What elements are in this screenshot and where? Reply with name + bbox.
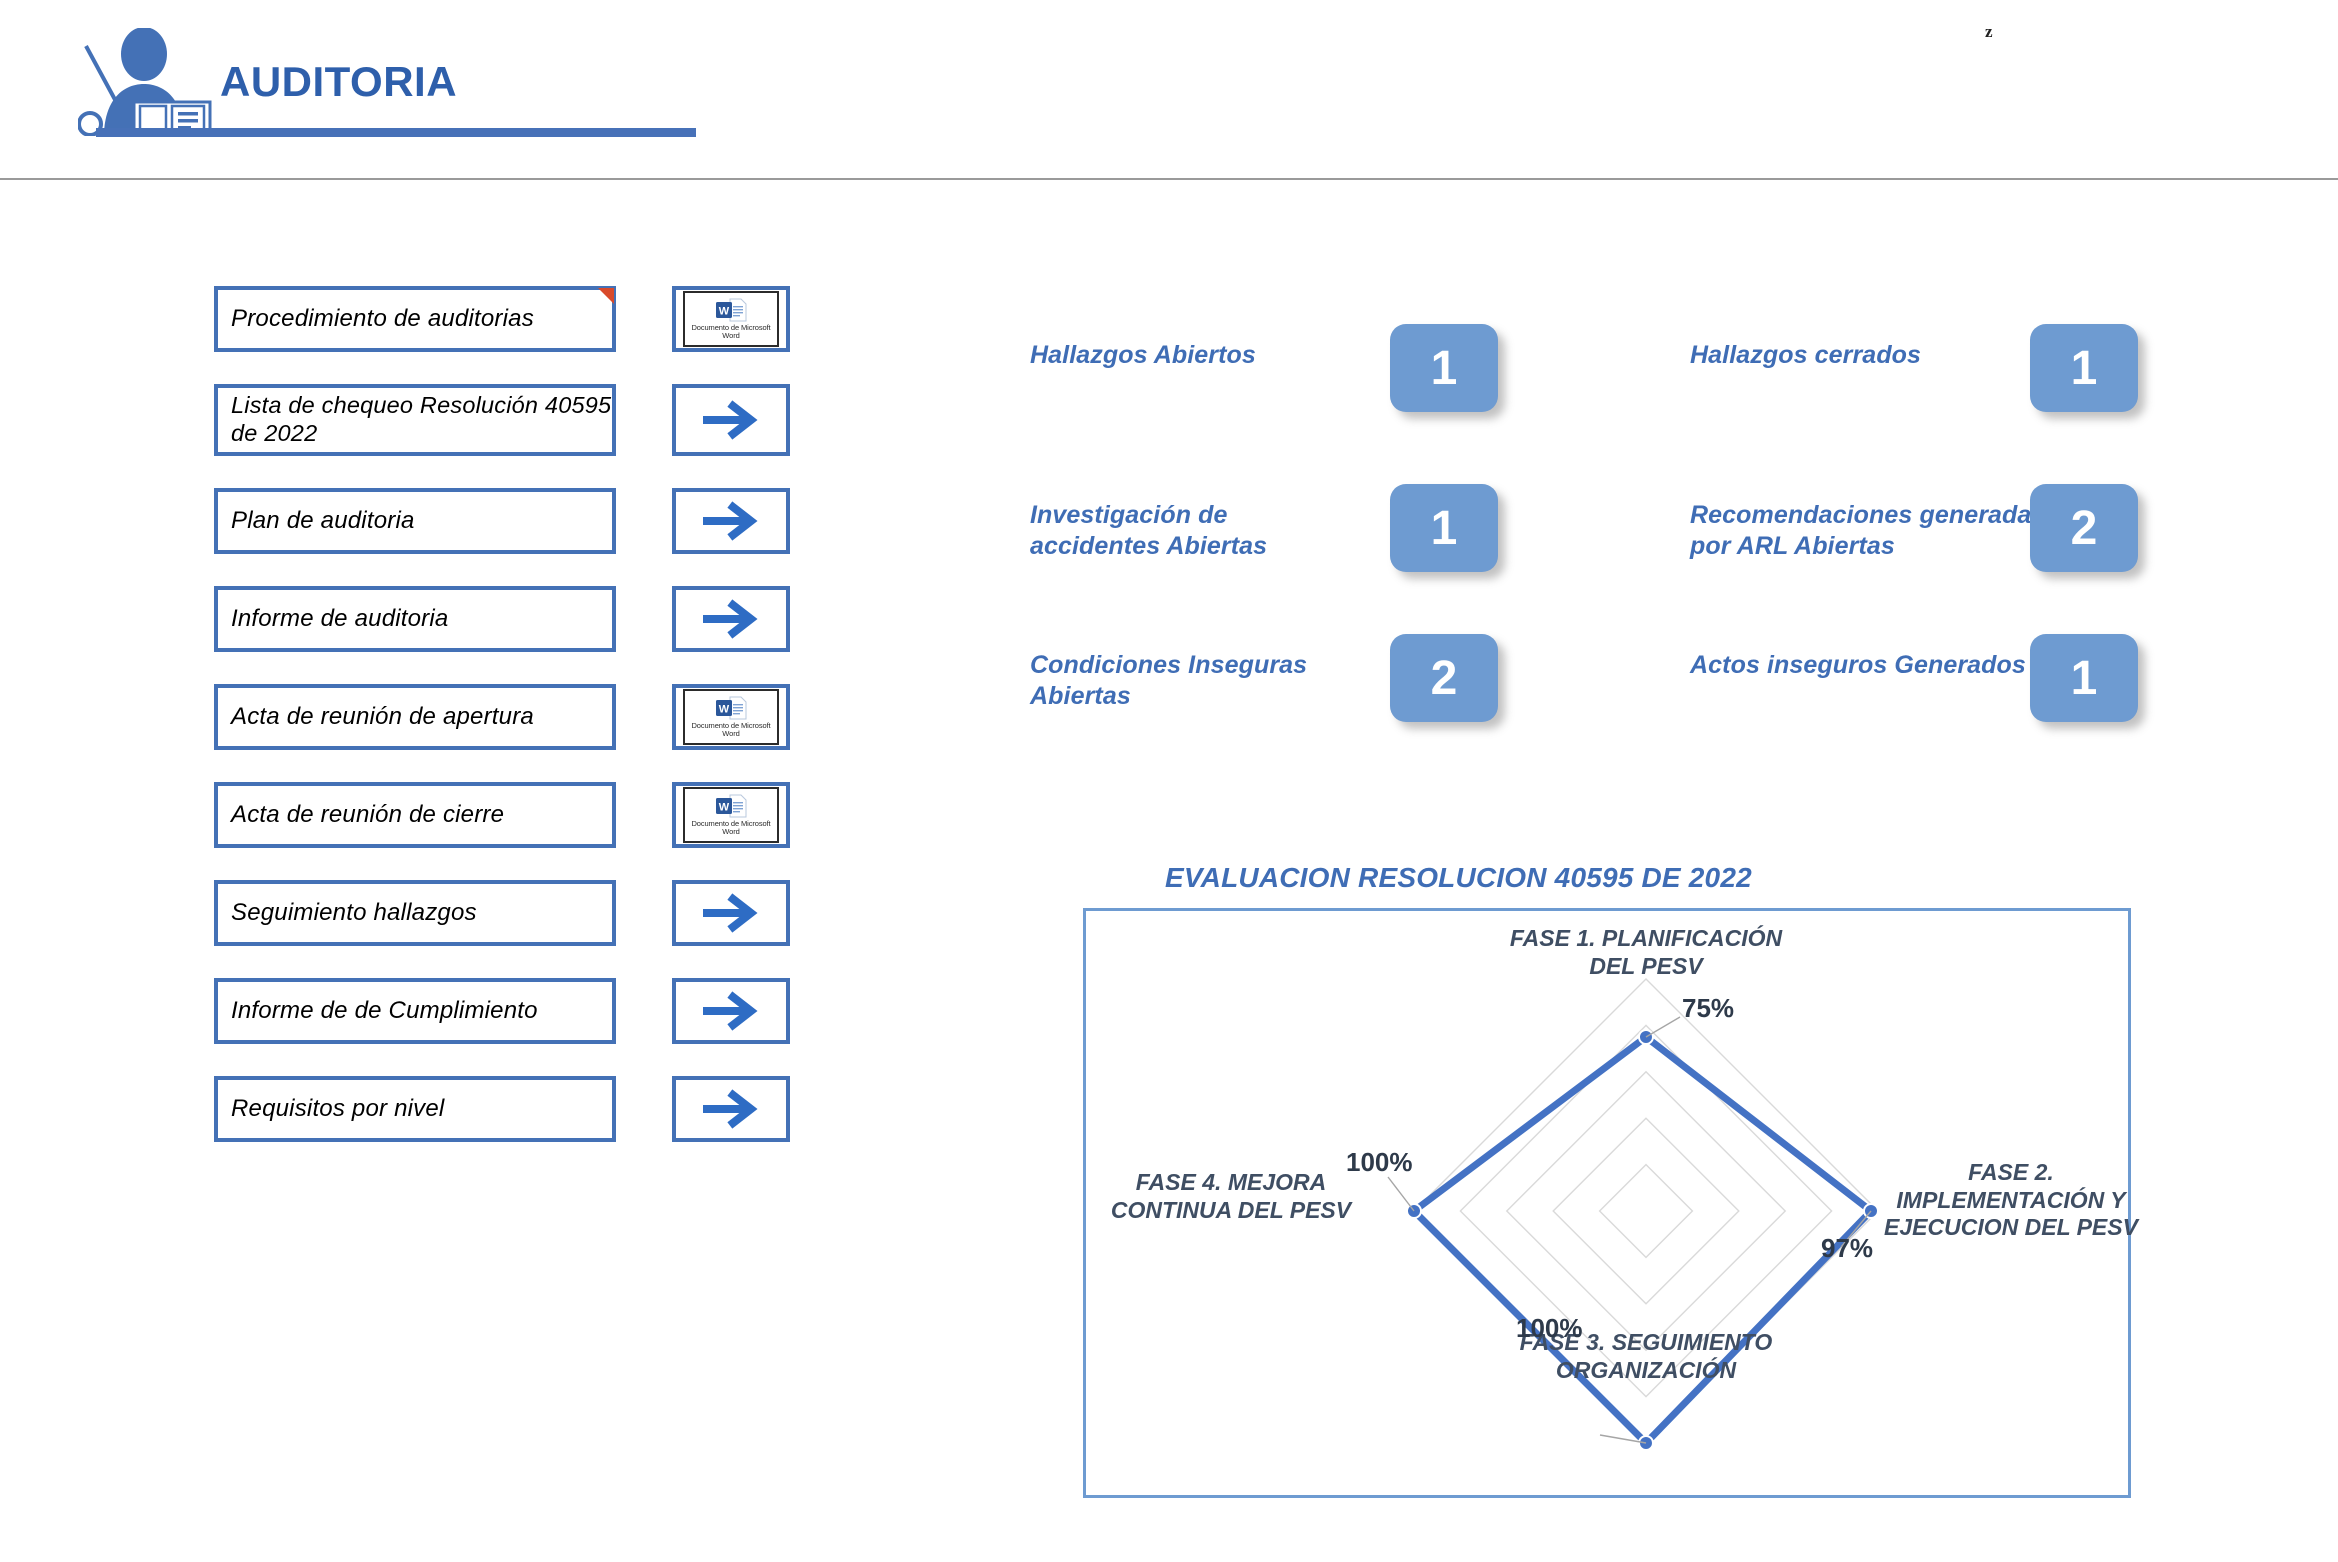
document-row: Informe de auditoria xyxy=(214,586,824,652)
radar-leader-line xyxy=(1646,1017,1680,1037)
document-action-button[interactable] xyxy=(672,880,790,946)
document-row: Plan de auditoria xyxy=(214,488,824,554)
word-document-icon: WDocumento de Microsoft Word xyxy=(683,689,779,745)
document-label: Procedimiento de auditorias xyxy=(231,305,534,333)
chart-title: EVALUACION RESOLUCION 40595 DE 2022 xyxy=(1165,862,1752,894)
title-underline xyxy=(96,128,696,137)
document-label: Requisitos por nivel xyxy=(231,1095,444,1123)
word-icon-caption: Documento de Microsoft Word xyxy=(685,722,777,739)
radar-value-label: 100% xyxy=(1516,1313,1583,1344)
kpi-value-badge[interactable]: 1 xyxy=(1390,484,1498,572)
document-row: Acta de reunión de cierreWDocumento de M… xyxy=(214,782,824,848)
radar-gridline xyxy=(1553,1118,1739,1304)
kpi-label: Hallazgos Abiertos xyxy=(1030,340,1360,371)
word-document-icon: WDocumento de Microsoft Word xyxy=(683,291,779,347)
kpi-value-badge[interactable]: 1 xyxy=(1390,324,1498,412)
document-button[interactable]: Procedimiento de auditorias xyxy=(214,286,616,352)
document-label: Acta de reunión de cierre xyxy=(231,801,504,829)
page-title: AUDITORIA xyxy=(220,58,457,106)
kpi-value-badge[interactable]: 2 xyxy=(1390,634,1498,722)
document-row: Procedimiento de auditoriasWDocumento de… xyxy=(214,286,824,352)
document-action-button[interactable] xyxy=(672,1076,790,1142)
comment-flag-icon xyxy=(598,288,614,304)
kpi-value-badge[interactable]: 1 xyxy=(2030,634,2138,722)
document-row: Acta de reunión de aperturaWDocumento de… xyxy=(214,684,824,750)
document-button[interactable]: Lista de chequeo Resolución 40595 de 202… xyxy=(214,384,616,456)
right-arrow-icon xyxy=(699,1089,763,1129)
radar-chart: FASE 1. PLANIFICACIÓN DEL PESVFASE 2. IM… xyxy=(1083,908,2131,1498)
radar-value-label: 100% xyxy=(1346,1147,1413,1178)
document-button[interactable]: Acta de reunión de cierre xyxy=(214,782,616,848)
document-label: Lista de chequeo Resolución 40595 de 202… xyxy=(231,392,612,447)
document-button[interactable]: Informe de de Cumplimiento xyxy=(214,978,616,1044)
word-file-glyph: W xyxy=(714,298,748,322)
radar-axis-label: FASE 1. PLANIFICACIÓN DEL PESV xyxy=(1416,925,1876,980)
kpi-card: Actos inseguros Generados1 xyxy=(1690,650,2030,681)
word-document-icon: WDocumento de Microsoft Word xyxy=(683,787,779,843)
document-button[interactable]: Requisitos por nivel xyxy=(214,1076,616,1142)
kpi-card: Hallazgos Abiertos1 xyxy=(1030,340,1360,371)
slide-canvas: AUDITORIA z Procedimiento de auditoriasW… xyxy=(0,0,2338,1562)
document-action-button[interactable]: WDocumento de Microsoft Word xyxy=(672,286,790,352)
document-button[interactable]: Acta de reunión de apertura xyxy=(214,684,616,750)
radar-gridline xyxy=(1600,1165,1693,1258)
kpi-label: Investigación de accidentes Abiertas xyxy=(1030,500,1350,561)
right-arrow-icon xyxy=(699,991,763,1031)
document-label: Seguimiento hallazgos xyxy=(231,899,477,927)
svg-text:W: W xyxy=(719,801,730,813)
document-row: Informe de de Cumplimiento xyxy=(214,978,824,1044)
document-label: Acta de reunión de apertura xyxy=(231,703,534,731)
document-button[interactable]: Plan de auditoria xyxy=(214,488,616,554)
document-row: Seguimiento hallazgos xyxy=(214,880,824,946)
kpi-label: Hallazgos cerrados xyxy=(1690,340,2020,371)
kpi-card: Recomendaciones generadas por ARL Abiert… xyxy=(1690,500,2090,561)
kpi-card: Hallazgos cerrados1 xyxy=(1690,340,2020,371)
document-button[interactable]: Seguimiento hallazgos xyxy=(214,880,616,946)
svg-text:W: W xyxy=(719,305,730,317)
word-icon-caption: Documento de Microsoft Word xyxy=(685,820,777,837)
document-action-button[interactable] xyxy=(672,384,790,456)
radar-data-points xyxy=(1407,1030,1878,1450)
word-icon-caption: Documento de Microsoft Word xyxy=(685,324,777,341)
right-arrow-icon xyxy=(699,501,763,541)
radar-value-label: 97% xyxy=(1821,1233,1873,1264)
header-divider xyxy=(0,178,2338,180)
kpi-label: Condiciones Inseguras Abiertas xyxy=(1030,650,1360,711)
word-file-glyph: W xyxy=(714,696,748,720)
radar-value-label: 75% xyxy=(1682,993,1734,1024)
document-button[interactable]: Informe de auditoria xyxy=(214,586,616,652)
radar-axis-label: FASE 3. SEGUIMIENTO ORGANIZACIÓN xyxy=(1416,1329,1876,1384)
kpi-value-badge[interactable]: 2 xyxy=(2030,484,2138,572)
page-header: AUDITORIA z xyxy=(0,0,2338,180)
kpi-card: Condiciones Inseguras Abiertas2 xyxy=(1030,650,1360,711)
auditor-person-desk-icon xyxy=(78,28,228,136)
word-file-glyph: W xyxy=(714,794,748,818)
right-arrow-icon xyxy=(699,400,763,440)
document-row: Lista de chequeo Resolución 40595 de 202… xyxy=(214,384,824,456)
corner-mark: z xyxy=(1985,22,1993,42)
document-action-button[interactable]: WDocumento de Microsoft Word xyxy=(672,684,790,750)
document-action-button[interactable] xyxy=(672,488,790,554)
right-arrow-icon xyxy=(699,893,763,933)
document-label: Plan de auditoria xyxy=(231,507,415,535)
kpi-card: Investigación de accidentes Abiertas1 xyxy=(1030,500,1350,561)
document-action-button[interactable] xyxy=(672,586,790,652)
document-action-button[interactable] xyxy=(672,978,790,1044)
document-action-button[interactable]: WDocumento de Microsoft Word xyxy=(672,782,790,848)
document-list: Procedimiento de auditoriasWDocumento de… xyxy=(214,286,824,1174)
kpi-value-badge[interactable]: 1 xyxy=(2030,324,2138,412)
kpi-label: Actos inseguros Generados xyxy=(1690,650,2030,681)
right-arrow-icon xyxy=(699,599,763,639)
radar-axis-label: FASE 2. IMPLEMENTACIÓN Y EJECUCION DEL P… xyxy=(1876,1159,2146,1242)
document-label: Informe de auditoria xyxy=(231,605,448,633)
svg-text:W: W xyxy=(719,703,730,715)
document-row: Requisitos por nivel xyxy=(214,1076,824,1142)
document-label: Informe de de Cumplimiento xyxy=(231,997,538,1025)
